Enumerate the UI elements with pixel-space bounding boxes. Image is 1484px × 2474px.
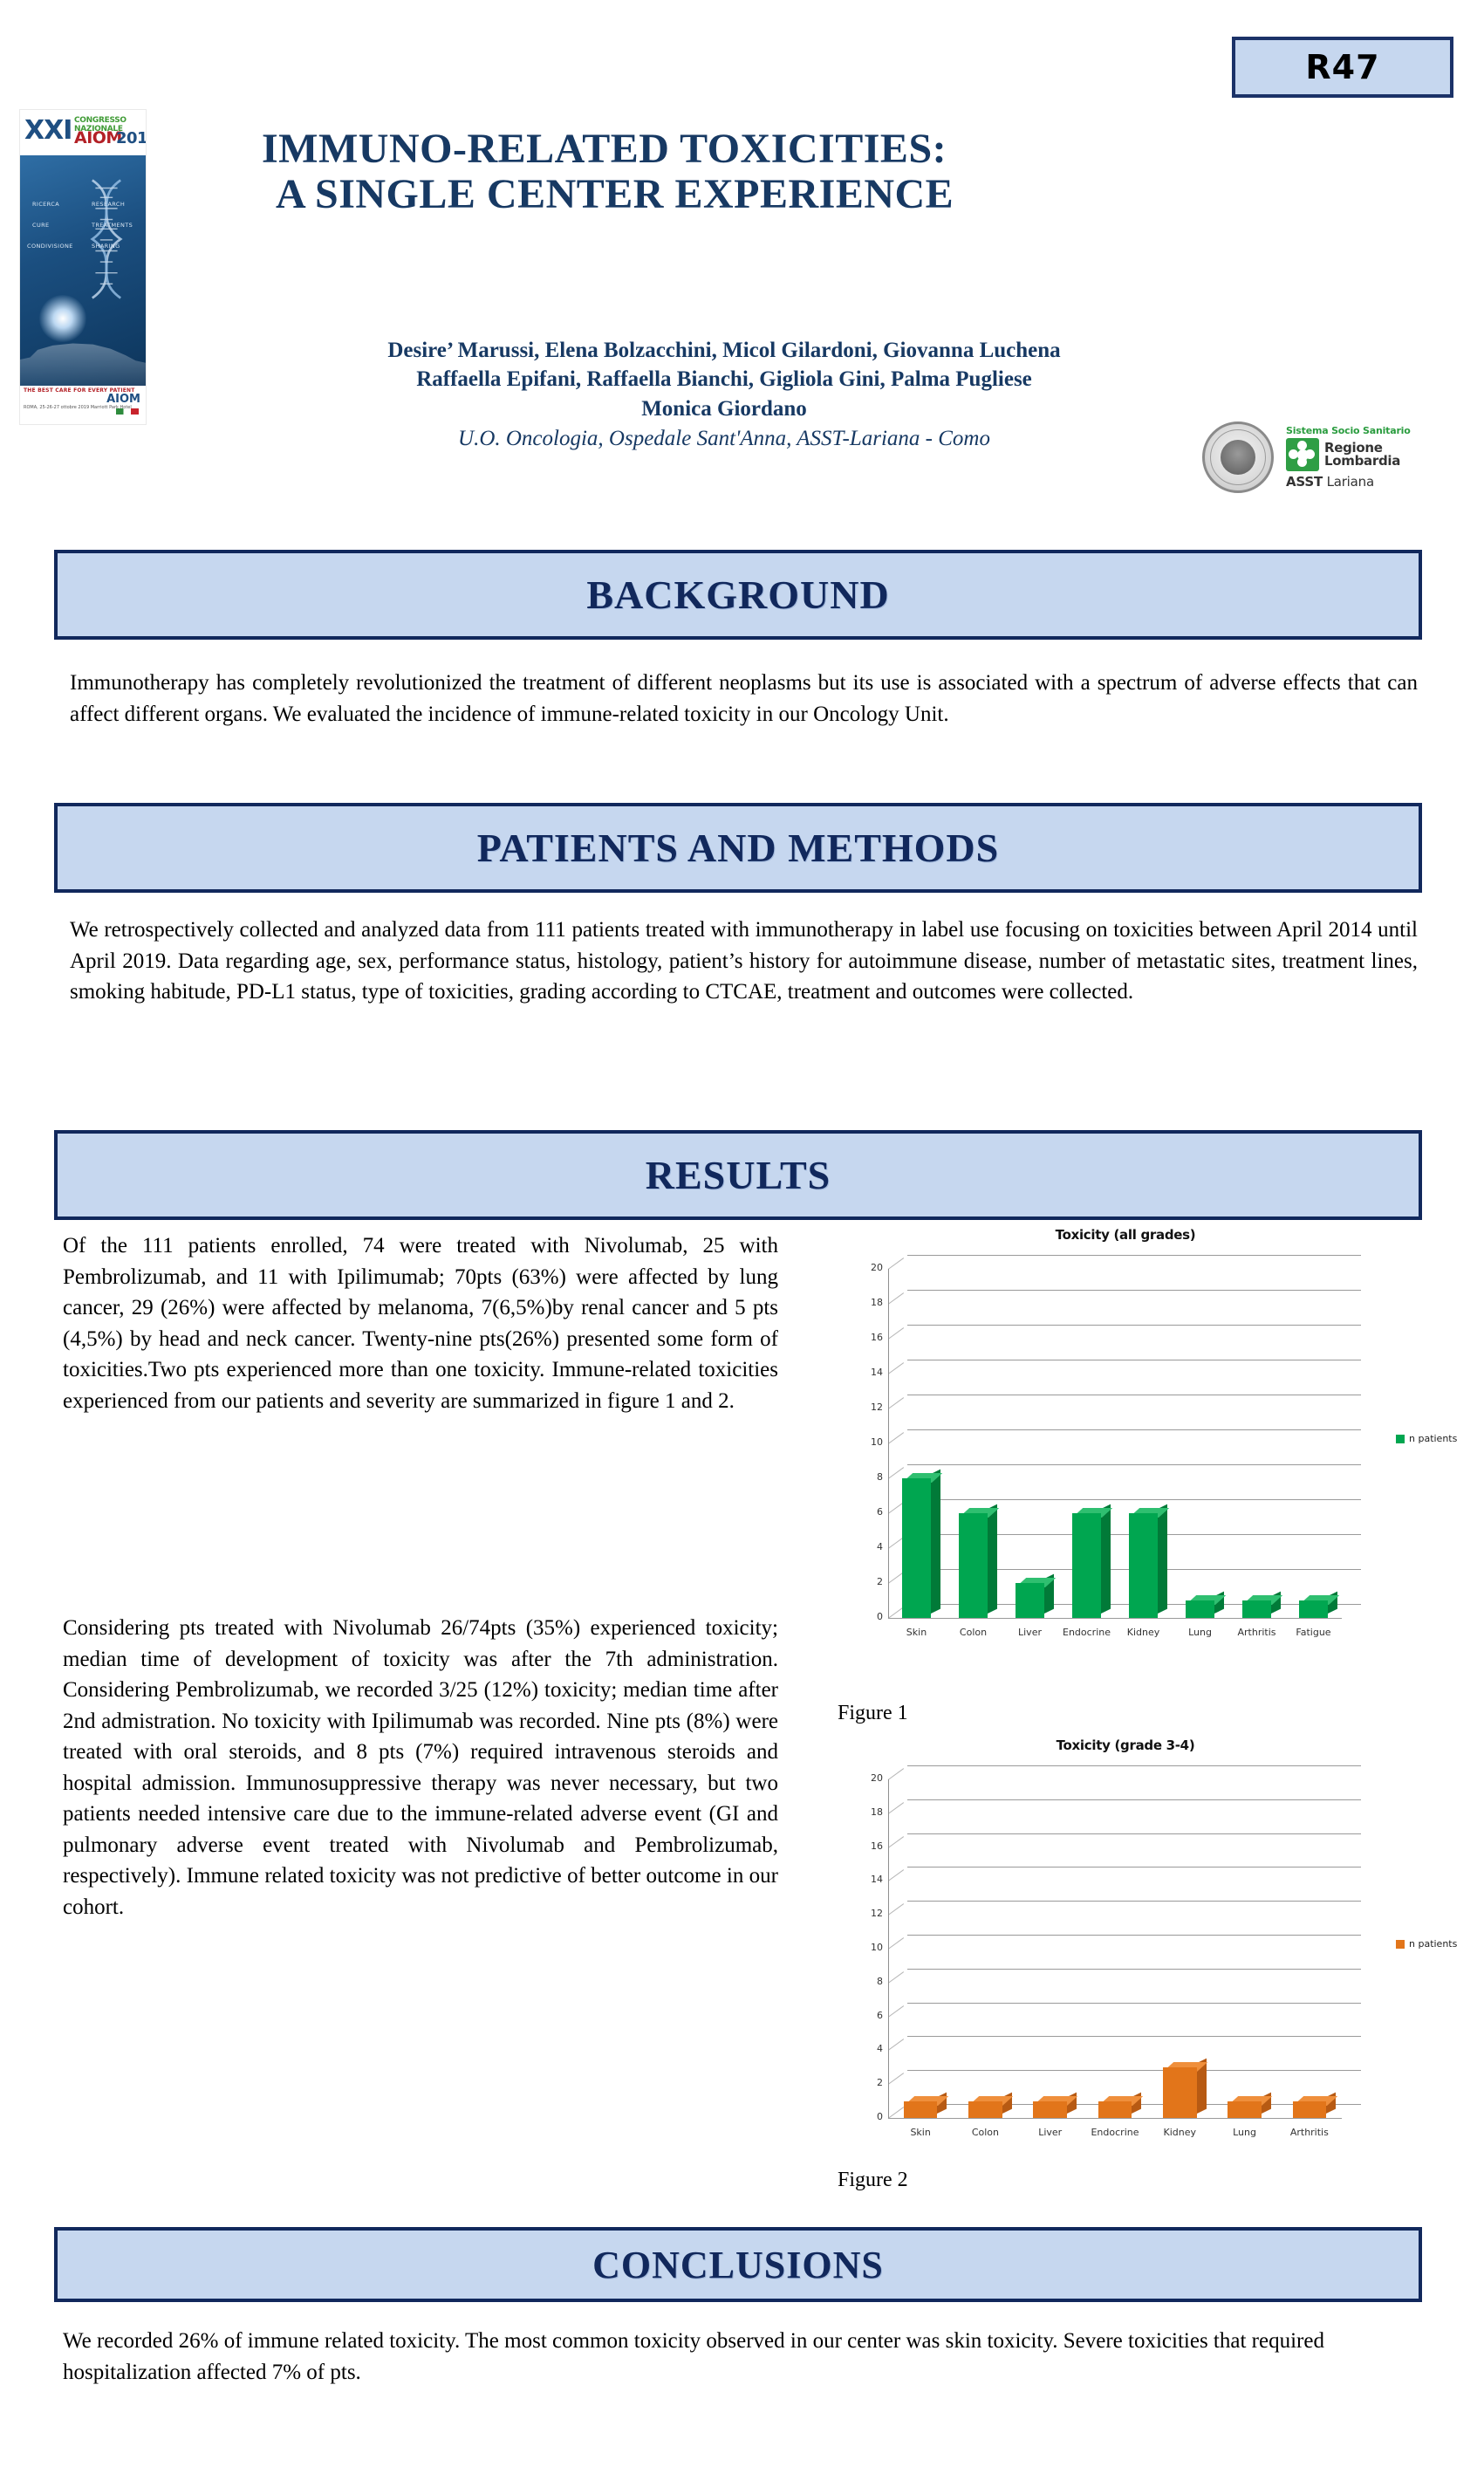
y-axis-tick-label: 10 — [848, 1942, 883, 1953]
chart-bar — [1299, 1600, 1329, 1618]
y-axis-tick-label: 20 — [848, 1772, 883, 1784]
y-axis-tick-label: 8 — [848, 1976, 883, 1987]
dna-helix-icon — [83, 178, 130, 300]
author-line-3: Monica Giordano — [157, 394, 1291, 423]
x-axis-category-label: Arthritis — [1277, 2127, 1342, 2138]
figure-1-caption: Figure 1 — [838, 1702, 908, 1725]
congress-logo-header: XXI CONGRESSO NAZIONALE AIOM 2019 — [20, 110, 146, 155]
x-axis-category-label: Colon — [945, 1627, 1002, 1638]
chart-bar-front — [1293, 2101, 1327, 2118]
y-axis-tick-label: 18 — [848, 1297, 883, 1308]
chart-legend: n patients — [1396, 1938, 1457, 1950]
poster-number-label: R47 — [1305, 48, 1379, 86]
section-heading-results: RESULTS — [646, 1152, 831, 1198]
chart-bar-side — [988, 1504, 997, 1614]
section-banner-background: BACKGROUND — [54, 550, 1422, 640]
chart-bar-front — [1129, 1513, 1159, 1618]
gridline — [907, 1395, 1361, 1395]
italy-flag-icon — [116, 408, 139, 415]
chart-bar-front — [1098, 2101, 1132, 2118]
congress-aiom-word: AIOM — [74, 128, 122, 147]
congress-roman-numeral: XXI — [24, 115, 72, 146]
x-axis-category-label: Skin — [888, 1627, 945, 1638]
x-axis-line — [888, 1618, 1342, 1619]
chart-bar-side — [1101, 1504, 1111, 1614]
gridline — [907, 1499, 1361, 1500]
chart-bar — [1163, 2067, 1197, 2118]
chart1-title: Toxicity (all grades) — [785, 1227, 1466, 1243]
ospedale-maggiore-seal-icon — [1202, 421, 1274, 493]
chart-bar-front — [968, 2101, 1002, 2118]
x-axis-category-label: Kidney — [1115, 1627, 1172, 1638]
gridline-riser — [888, 2005, 904, 2018]
section-banner-conclusions: CONCLUSIONS — [54, 2227, 1422, 2302]
light-glow-graphic — [39, 295, 86, 342]
chart-bar — [902, 1478, 932, 1618]
chart-bar-front — [904, 2101, 938, 2118]
lombardia-rose-icon — [1286, 438, 1319, 471]
congress-keyword-it-2: CONDIVISIONE — [27, 243, 73, 250]
gridline — [907, 1867, 1361, 1867]
chart-bar — [968, 2101, 1002, 2118]
poster-title: IMMUNO-RELATED TOXICITIES: A SINGLE CENT… — [262, 127, 1291, 217]
congress-keyword-en-2: SHARING — [92, 243, 120, 250]
gridline — [907, 1969, 1361, 1970]
section-banner-results: RESULTS — [54, 1130, 1422, 1220]
section-banner-patients-and-methods: PATIENTS AND METHODS — [54, 803, 1422, 893]
chart-bar — [1016, 1583, 1045, 1618]
chart-bar-front — [1186, 1600, 1215, 1618]
x-axis-category-label: Liver — [1002, 1627, 1058, 1638]
congress-logo-artwork: RICERCA CURE CONDIVISIONE RESEARCH TREAT… — [20, 155, 146, 424]
author-line-1: Desire’ Marussi, Elena Bolzacchini, Mico… — [157, 336, 1291, 365]
y-axis-tick-label: 10 — [848, 1436, 883, 1448]
legend-series-label: n patients — [1409, 1938, 1457, 1950]
congress-keyword-it-1: CURE — [32, 222, 50, 229]
gridline-riser — [888, 1258, 904, 1270]
chart-bar — [1129, 1513, 1159, 1618]
section-heading-background: BACKGROUND — [586, 572, 889, 618]
x-axis-category-label: Colon — [953, 2127, 1017, 2138]
gridline — [907, 1429, 1361, 1430]
chart-bar-front — [1072, 1513, 1102, 1618]
gridline-riser — [888, 2107, 904, 2119]
gridline — [907, 1464, 1361, 1465]
y-axis-tick-label: 16 — [848, 1332, 883, 1343]
results-paragraph-1: Of the 111 patients enrolled, 74 were tr… — [63, 1230, 778, 1416]
x-axis-category-label: Liver — [1018, 2127, 1083, 2138]
chart-bar — [1186, 1600, 1215, 1618]
chart-bar — [1293, 2101, 1327, 2118]
legend-series-label: n patients — [1409, 1433, 1457, 1444]
y-axis-tick-label: 2 — [848, 2077, 883, 2088]
author-block: Desire’ Marussi, Elena Bolzacchini, Mico… — [157, 336, 1291, 451]
patients-methods-body-text: We retrospectively collected and analyze… — [70, 915, 1418, 1008]
x-axis-category-label: Endocrine — [1083, 2127, 1147, 2138]
y-axis-line — [888, 1269, 889, 1618]
lombardia-label: Lombardia — [1324, 455, 1400, 468]
y-axis-tick-label: 0 — [848, 1611, 883, 1622]
conclusions-body-text: We recorded 26% of immune related toxici… — [63, 2326, 1415, 2388]
gridline-riser — [888, 1802, 904, 1814]
congress-year: 2019 — [116, 129, 147, 147]
y-axis-tick-label: 12 — [848, 1401, 883, 1413]
aiom-congress-logo: XXI CONGRESSO NAZIONALE AIOM 2019 RICERC… — [19, 109, 147, 425]
title-line-1: IMMUNO-RELATED TOXICITIES: — [262, 127, 1291, 172]
chart-bar — [904, 2101, 938, 2118]
asst-label: ASST — [1286, 474, 1323, 490]
chart-bar — [1098, 2101, 1132, 2118]
gridline — [907, 1325, 1361, 1326]
chart-bar-side — [1158, 1504, 1167, 1614]
gridline — [907, 1765, 1361, 1766]
poster-number-badge: R47 — [1232, 37, 1453, 98]
gridline — [907, 1255, 1361, 1256]
x-axis-category-label: Kidney — [1147, 2127, 1212, 2138]
background-body-text: Immunotherapy has completely revolutioni… — [70, 668, 1418, 730]
colosseum-graphic — [20, 337, 146, 391]
chart-toxicity-all-grades: Toxicity (all grades) 02468101214161820S… — [785, 1222, 1466, 1684]
gridline — [907, 2070, 1361, 2071]
gridline-riser — [888, 1870, 904, 1882]
gridline — [907, 1901, 1361, 1902]
chart-bar-front — [1033, 2101, 1067, 2118]
results-paragraph-2: Considering pts treated with Nivolumab 2… — [63, 1613, 778, 1922]
x-axis-category-label: Lung — [1212, 2127, 1276, 2138]
congress-keyword-en-1: TREATMENTS — [92, 222, 133, 229]
y-axis-tick-label: 20 — [848, 1262, 883, 1273]
gridline — [907, 1935, 1361, 1936]
author-line-2: Raffaella Epifani, Raffaella Bianchi, Gi… — [157, 365, 1291, 394]
y-axis-tick-label: 14 — [848, 1874, 883, 1885]
chart2-plot-area: 02468101214161820SkinColonLiverEndocrine… — [785, 1758, 1466, 2182]
chart-bar — [1033, 2101, 1067, 2118]
chart-toxicity-grade-3-4: Toxicity (grade 3-4) 02468101214161820Sk… — [785, 1732, 1466, 2182]
y-axis-tick-label: 6 — [848, 2010, 883, 2021]
y-axis-tick-label: 18 — [848, 1806, 883, 1818]
x-axis-line — [888, 2118, 1342, 2119]
chart-bar-front — [1228, 2101, 1262, 2118]
section-heading-patients-and-methods: PATIENTS AND METHODS — [477, 825, 1000, 871]
aiom-wordmark: AIOM — [106, 393, 140, 406]
lariana-label: Lariana — [1327, 474, 1374, 490]
gridline-riser — [888, 1768, 904, 1780]
chart-bar-side — [931, 1470, 940, 1614]
gridline — [907, 2036, 1361, 2037]
x-axis-category-label: Skin — [888, 2127, 953, 2138]
chart-bar — [959, 1513, 988, 1618]
gridline-riser — [888, 1292, 904, 1305]
gridline — [907, 1799, 1361, 1800]
chart-bar-front — [1299, 1600, 1329, 1618]
y-axis-tick-label: 0 — [848, 2111, 883, 2122]
chart-bar — [1228, 2101, 1262, 2118]
y-axis-tick-label: 6 — [848, 1506, 883, 1518]
section-heading-conclusions: CONCLUSIONS — [592, 2243, 884, 2287]
gridline-riser — [888, 1327, 904, 1340]
x-axis-category-label: Fatigue — [1285, 1627, 1342, 1638]
figure-2-caption: Figure 2 — [838, 2169, 908, 2192]
x-axis-category-label: Arthritis — [1228, 1627, 1285, 1638]
gridline — [907, 1360, 1361, 1360]
y-axis-line — [888, 1779, 889, 2118]
gridline-riser — [888, 1397, 904, 1409]
poster-canvas: R47 XXI CONGRESSO NAZIONALE AIOM 2019 RI — [0, 0, 1484, 2474]
x-axis-category-label: Endocrine — [1058, 1627, 1115, 1638]
gridline-riser — [888, 2039, 904, 2052]
chart-bar — [1072, 1513, 1102, 1618]
y-axis-tick-label: 16 — [848, 1840, 883, 1852]
affiliation-line: U.O. Oncologia, Ospedale Sant'Anna, ASST… — [157, 427, 1291, 451]
chart1-plot-area: 02468101214161820SkinColonLiverEndocrine… — [785, 1248, 1466, 1684]
y-axis-tick-label: 2 — [848, 1576, 883, 1587]
chart-bar — [1242, 1600, 1272, 1618]
y-axis-tick-label: 14 — [848, 1367, 883, 1378]
gridline-riser — [888, 1362, 904, 1374]
sistema-socio-sanitario-label: Sistema Socio Sanitario — [1286, 425, 1464, 436]
gridline-riser — [888, 1467, 904, 1479]
gridline — [907, 2003, 1361, 2004]
gridline — [907, 1290, 1361, 1291]
chart-bar-front — [1016, 1583, 1045, 1618]
y-axis-tick-label: 4 — [848, 2043, 883, 2054]
gridline-riser — [888, 1971, 904, 1984]
chart-bar-front — [902, 1478, 932, 1618]
congress-keyword-it-0: RICERCA — [32, 201, 59, 208]
chart-legend: n patients — [1396, 1433, 1457, 1444]
seal-inner-ring — [1210, 429, 1266, 485]
gridline-riser — [888, 1836, 904, 1848]
congress-logo-footer: THE BEST CARE FOR EVERY PATIENT ROMA, 25… — [20, 386, 146, 424]
institution-logos: Sistema Socio Sanitario Regione Lombardi… — [1202, 417, 1464, 497]
title-line-2: A SINGLE CENTER EXPERIENCE — [276, 172, 1291, 217]
legend-color-swatch — [1396, 1435, 1405, 1443]
legend-color-swatch — [1396, 1940, 1405, 1949]
x-axis-category-label: Lung — [1172, 1627, 1228, 1638]
chart2-title: Toxicity (grade 3-4) — [785, 1737, 1466, 1753]
gridline — [907, 1833, 1361, 1834]
y-axis-tick-label: 12 — [848, 1908, 883, 1919]
congress-keyword-en-0: RESEARCH — [92, 201, 125, 208]
gridline-riser — [888, 2073, 904, 2085]
gridline-riser — [888, 1432, 904, 1444]
chart-bar-front — [1163, 2067, 1197, 2118]
y-axis-tick-label: 8 — [848, 1471, 883, 1483]
regione-lombardia-logo: Sistema Socio Sanitario Regione Lombardi… — [1286, 425, 1464, 490]
chart-bar-front — [959, 1513, 988, 1618]
gridline-riser — [888, 1903, 904, 1915]
gridline-riser — [888, 1937, 904, 1950]
y-axis-tick-label: 4 — [848, 1541, 883, 1552]
chart-bar-front — [1242, 1600, 1272, 1618]
